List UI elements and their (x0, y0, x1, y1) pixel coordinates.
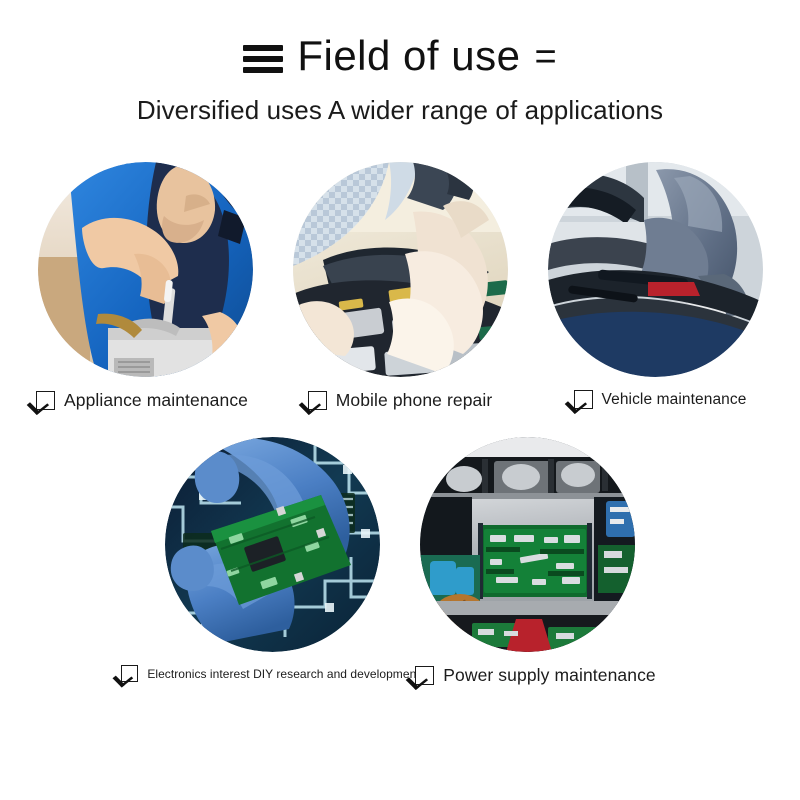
hamburger-bar (243, 45, 283, 51)
use-case-card-vehicle-maintenance[interactable]: Vehicle maintenance (548, 162, 763, 411)
photo-vehicle-maintenance-illustration (548, 162, 763, 377)
checkbox-checked-icon[interactable] (574, 390, 593, 409)
checkbox-checked-icon[interactable] (36, 391, 55, 410)
use-case-card-mobile-phone-repair[interactable]: Mobile phone repair (293, 162, 508, 411)
use-case-row-bottom: Electronics interest DIY research and de… (0, 437, 800, 686)
photo-appliance-maintenance (38, 162, 253, 377)
photo-vehicle-maintenance (548, 162, 763, 377)
use-case-label: Electronics interest DIY research and de… (147, 667, 419, 681)
hamburger-bar (243, 56, 283, 62)
photo-power-supply-maintenance (420, 437, 635, 652)
photo-appliance-maintenance-illustration (38, 162, 253, 377)
photo-mobile-phone-repair (293, 162, 508, 377)
use-case-label: Mobile phone repair (336, 390, 493, 411)
use-case-card-appliance-maintenance[interactable]: Appliance maintenance (38, 162, 253, 411)
caption-mobile-phone-repair: Mobile phone repair (308, 390, 493, 411)
photo-power-supply-maintenance-illustration (420, 437, 635, 652)
use-case-card-electronics-diy[interactable]: Electronics interest DIY research and de… (165, 437, 380, 686)
page-title: Field of use (297, 34, 520, 78)
use-case-label: Power supply maintenance (443, 665, 656, 686)
caption-vehicle-maintenance: Vehicle maintenance (574, 390, 747, 409)
use-case-label: Appliance maintenance (64, 390, 248, 411)
page-root: Field of use = Diversified uses A wider … (0, 0, 800, 800)
caption-appliance-maintenance: Appliance maintenance (36, 390, 248, 411)
equals-icon: = (534, 36, 556, 79)
title-row: Field of use = (0, 34, 800, 79)
checkbox-checked-icon[interactable] (415, 666, 434, 685)
photo-electronics-diy-illustration (165, 437, 380, 652)
hamburger-icon (243, 45, 283, 73)
page-header: Field of use = Diversified uses A wider … (0, 0, 800, 126)
checkbox-checked-icon[interactable] (308, 391, 327, 410)
hamburger-bar (243, 67, 283, 73)
caption-power-supply-maintenance: Power supply maintenance (415, 665, 656, 686)
page-subtitle: Diversified uses A wider range of applic… (0, 95, 800, 126)
checkbox-checked-icon[interactable] (121, 665, 138, 682)
use-case-label: Vehicle maintenance (602, 391, 747, 409)
use-case-row-top: Appliance maintenance (0, 162, 800, 411)
photo-mobile-phone-repair-illustration (293, 162, 508, 377)
caption-electronics-diy: Electronics interest DIY research and de… (121, 665, 419, 682)
use-case-card-power-supply-maintenance[interactable]: Power supply maintenance (420, 437, 635, 686)
photo-electronics-diy (165, 437, 380, 652)
